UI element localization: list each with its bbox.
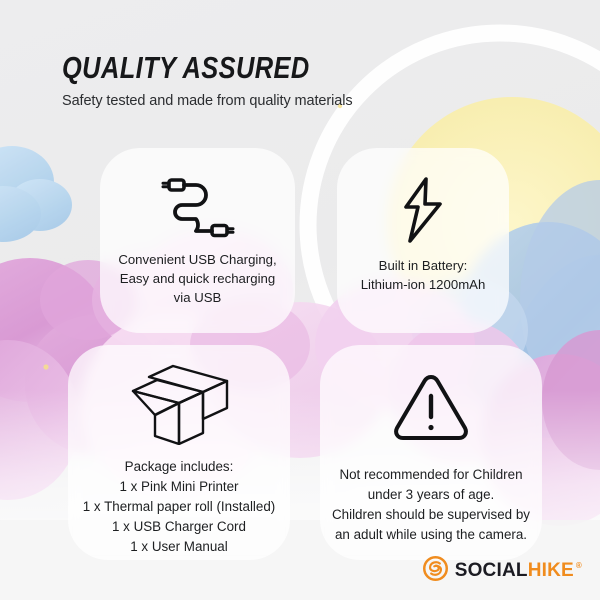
- card-caption: Package includes:1 x Pink Mini Printer1 …: [75, 457, 284, 558]
- lightning-bolt-icon: [395, 176, 451, 244]
- feature-card-battery: Built in Battery:Lithium-ion 1200mAh: [337, 148, 509, 333]
- brand-logo-text: SOCIAL HIKE ®: [455, 560, 582, 582]
- feature-card-usb-charging: Convenient USB Charging,Easy and quick r…: [100, 148, 295, 333]
- feature-card-age-warning: Not recommended for Childrenunder 3 year…: [320, 345, 542, 560]
- page-title: QUALITY ASSURED: [62, 52, 310, 85]
- open-box-icon: [127, 361, 231, 447]
- card-caption: Not recommended for Childrenunder 3 year…: [324, 465, 538, 545]
- warning-triangle-icon: [392, 365, 470, 449]
- brand-logo: SOCIAL HIKE ®: [423, 556, 582, 586]
- feature-card-package-contents: Package includes:1 x Pink Mini Printer1 …: [68, 345, 290, 560]
- card-caption: Built in Battery:Lithium-ion 1200mAh: [353, 256, 494, 294]
- registered-trademark-icon: ®: [576, 561, 582, 570]
- usb-cable-icon: [155, 172, 241, 244]
- brand-name-secondary: HIKE: [528, 560, 574, 582]
- card-caption: Convenient USB Charging,Easy and quick r…: [110, 250, 284, 307]
- page-subtitle: Safety tested and made from quality mate…: [62, 93, 364, 109]
- brand-name-primary: SOCIAL: [455, 560, 528, 582]
- header: QUALITY ASSURED Safety tested and made f…: [62, 52, 364, 109]
- spiral-swirl-icon: [423, 556, 448, 586]
